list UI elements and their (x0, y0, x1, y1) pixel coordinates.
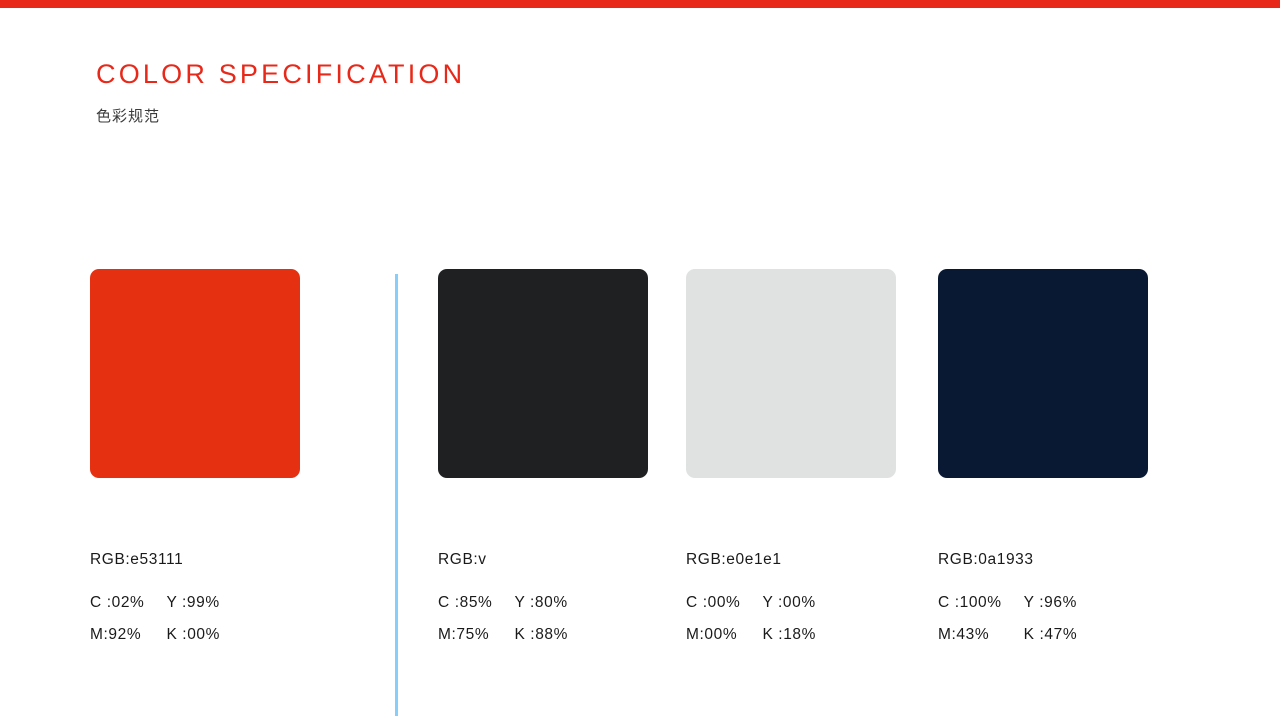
swatch-rgb-label: RGB:v (438, 551, 648, 569)
swatch-rgb-label: RGB:e0e1e1 (686, 551, 896, 569)
cmyk-m: M:75% (438, 626, 492, 644)
swatch-grid: RGB:e53111 C :02% Y :99% M:92% K :00% RG… (0, 269, 1280, 669)
cmyk-k: K :47% (1024, 626, 1078, 644)
cmyk-k: K :18% (762, 626, 816, 644)
swatch-rgb-label: RGB:0a1933 (938, 551, 1148, 569)
cmyk-c: C :02% (90, 594, 144, 612)
swatch-card: RGB:e0e1e1 C :00% Y :00% M:00% K :18% (686, 269, 896, 644)
swatch-cmyk-values: C :85% Y :80% M:75% K :88% (438, 594, 648, 644)
cmyk-m: M:92% (90, 626, 144, 644)
swatch-card: RGB:v C :85% Y :80% M:75% K :88% (438, 269, 648, 644)
color-chip-deep-navy (938, 269, 1148, 478)
swatch-cmyk-values: C :02% Y :99% M:92% K :00% (90, 594, 300, 644)
cmyk-y: Y :96% (1024, 594, 1078, 612)
cmyk-m: M:43% (938, 626, 1002, 644)
cmyk-c: C :00% (686, 594, 740, 612)
cmyk-k: K :00% (166, 626, 220, 644)
cmyk-y: Y :99% (166, 594, 220, 612)
swatch-card: RGB:0a1933 C :100% Y :96% M:43% K :47% (938, 269, 1148, 644)
cmyk-y: Y :80% (514, 594, 568, 612)
cmyk-k: K :88% (514, 626, 568, 644)
swatch-cmyk-values: C :00% Y :00% M:00% K :18% (686, 594, 896, 644)
color-chip-light-gray (686, 269, 896, 478)
color-chip-near-black (438, 269, 648, 478)
cmyk-c: C :100% (938, 594, 1002, 612)
color-chip-primary-red (90, 269, 300, 478)
cmyk-m: M:00% (686, 626, 740, 644)
cmyk-y: Y :00% (762, 594, 816, 612)
top-accent-bar (0, 0, 1280, 8)
swatch-rgb-label: RGB:e53111 (90, 551, 300, 569)
header: COLOR SPECIFICATION 色彩规范 (96, 60, 465, 126)
page-subtitle: 色彩规范 (96, 105, 465, 126)
swatch-card: RGB:e53111 C :02% Y :99% M:92% K :00% (90, 269, 300, 644)
swatch-cmyk-values: C :100% Y :96% M:43% K :47% (938, 594, 1148, 644)
cmyk-c: C :85% (438, 594, 492, 612)
page-title: COLOR SPECIFICATION (96, 60, 465, 90)
